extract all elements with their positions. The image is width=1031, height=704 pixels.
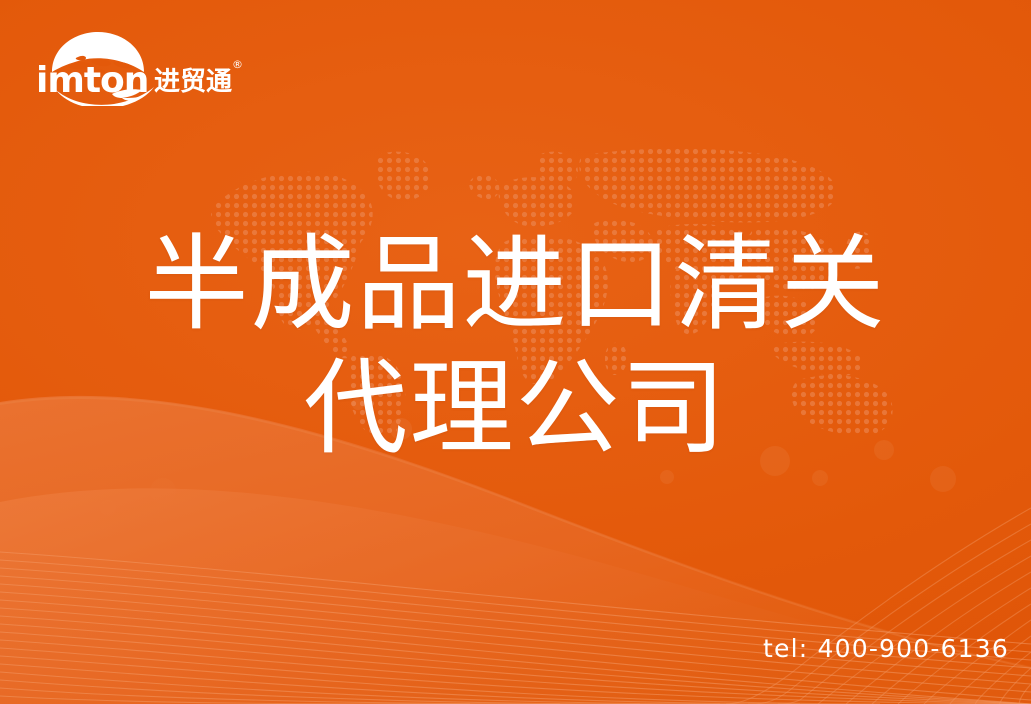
logo-wordmark-chinese: 进贸通 [154,67,232,97]
headline-line-1: 半成品进口清关 [0,222,1031,346]
promo-banner: imton 进贸通 ® 半成品进口清关 代理公司 tel: 400-900-61… [0,0,1031,704]
page-title: 半成品进口清关 代理公司 [0,222,1031,470]
headline-line-2: 代理公司 [0,346,1031,470]
contact-phone[interactable]: tel: 400-900-6136 [763,634,1009,663]
brand-logo[interactable]: imton 进贸通 ® [34,28,244,106]
logo-wordmark-latin: imton [36,60,148,101]
trademark-symbol: ® [232,58,243,71]
thin-line-bundle [0,474,1031,704]
